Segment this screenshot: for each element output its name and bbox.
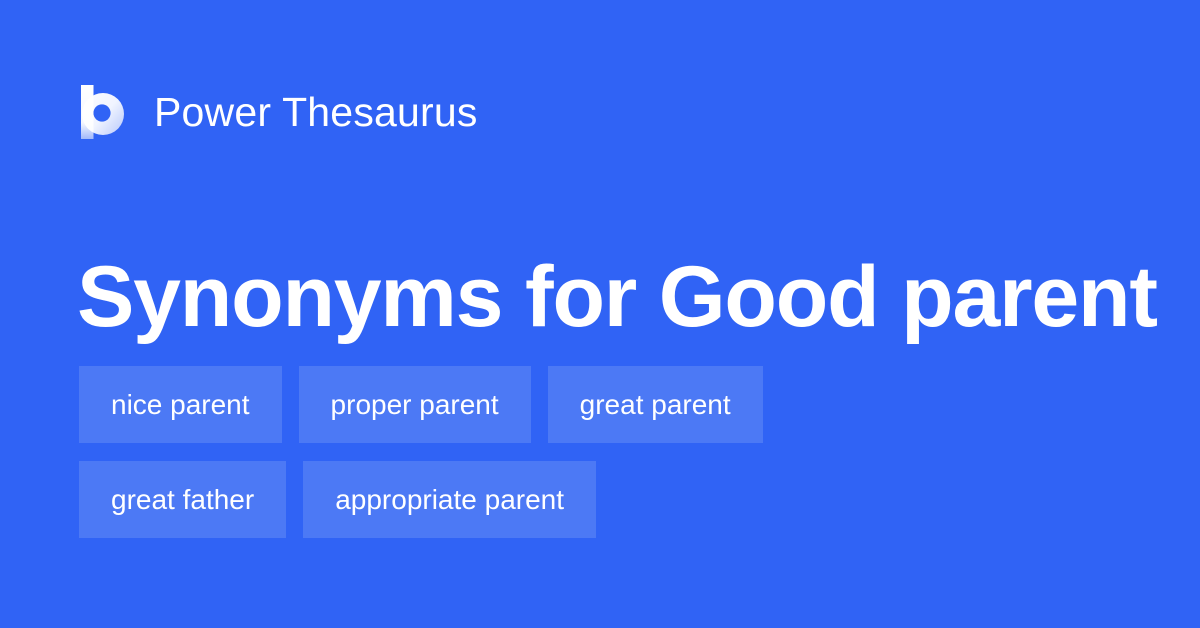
- synonym-chip-row: great father appropriate parent: [79, 461, 1139, 538]
- synonym-chip[interactable]: great father: [79, 461, 286, 538]
- synonym-chip-list: nice parent proper parent great parent g…: [79, 366, 1139, 538]
- synonym-chip[interactable]: appropriate parent: [303, 461, 596, 538]
- power-thesaurus-b-logo-icon: [79, 85, 125, 139]
- synonym-chip-row: nice parent proper parent great parent: [79, 366, 1139, 443]
- synonym-chip[interactable]: proper parent: [299, 366, 531, 443]
- brand-name: Power Thesaurus: [154, 92, 478, 133]
- synonym-chip[interactable]: nice parent: [79, 366, 282, 443]
- synonym-chip[interactable]: great parent: [548, 366, 763, 443]
- brand-lockup[interactable]: Power Thesaurus: [79, 82, 478, 142]
- page-title: Synonyms for Good parent: [77, 254, 1157, 340]
- share-card: Power Thesaurus Synonyms for Good parent…: [0, 0, 1200, 628]
